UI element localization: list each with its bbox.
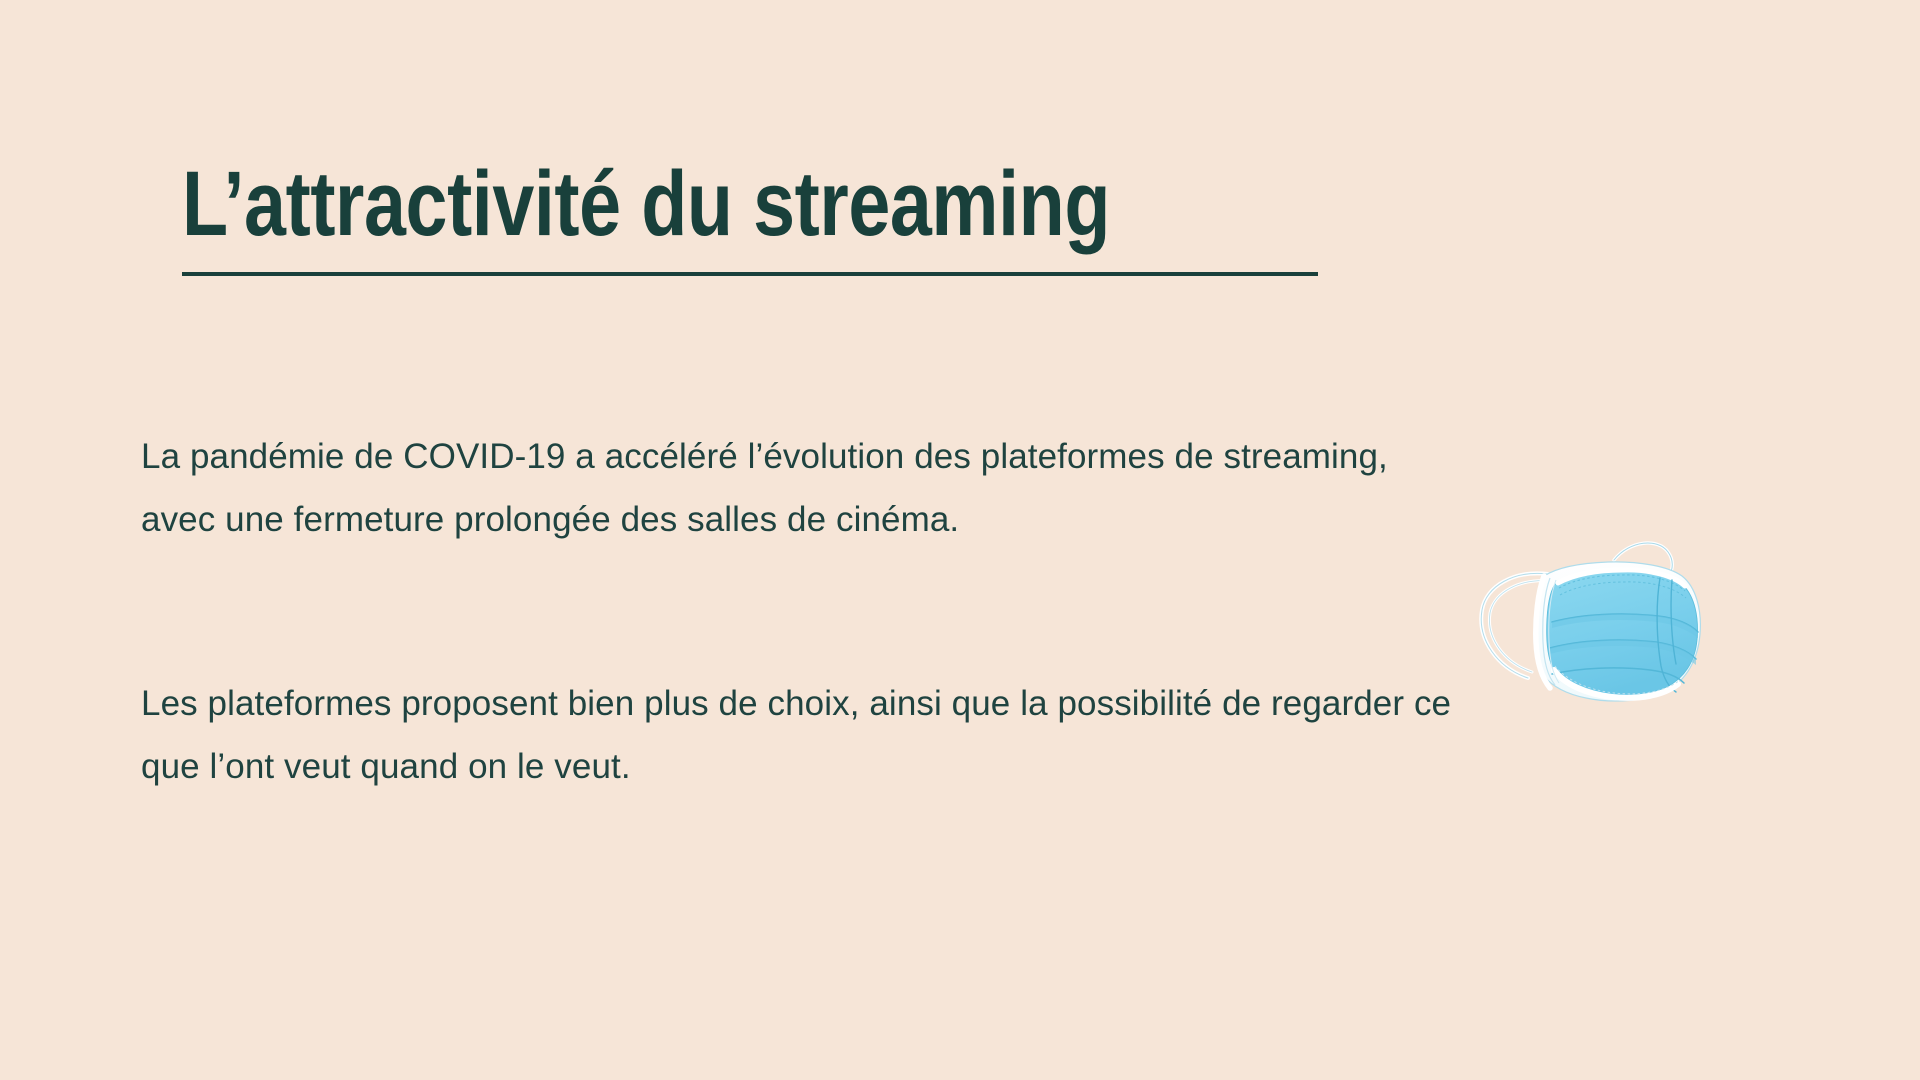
slide-canvas: L’attractivité du streaming La pandémie … xyxy=(0,0,1920,1080)
paragraph-2: Les plateformes proposent bien plus de c… xyxy=(141,672,1461,798)
surgical-mask-illustration xyxy=(1462,518,1722,718)
paragraph-1: La pandémie de COVID-19 a accéléré l’évo… xyxy=(141,425,1461,551)
title-underline-rule xyxy=(182,272,1318,276)
page-title: L’attractivité du streaming xyxy=(182,158,1133,250)
title-block: L’attractivité du streaming xyxy=(182,158,1342,276)
body-copy: La pandémie de COVID-19 a accéléré l’évo… xyxy=(141,425,1461,798)
